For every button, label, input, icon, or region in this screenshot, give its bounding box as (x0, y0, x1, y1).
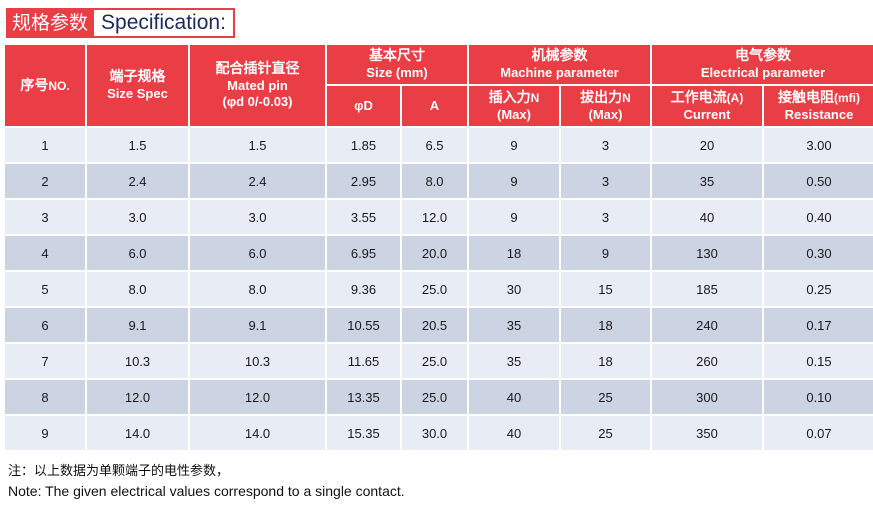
header-extract-force: 拔出力N (Max) (561, 86, 650, 126)
cell-a: 25.0 (402, 272, 467, 306)
cell-resistance: 0.17 (764, 308, 873, 342)
cell-insert-force: 35 (469, 308, 559, 342)
title-box: 规格参数 Specification: (6, 8, 235, 38)
cell-phi-d: 15.35 (327, 416, 400, 450)
table-row: 812.012.013.3525.040253000.10 (5, 380, 873, 414)
cell-extract-force: 15 (561, 272, 650, 306)
cell-insert-force: 18 (469, 236, 559, 270)
header-extract-force-max: (Max) (563, 107, 648, 123)
cell-no: 4 (5, 236, 85, 270)
cell-insert-force: 35 (469, 344, 559, 378)
header-machine-cn: 机械参数 (471, 48, 648, 65)
header-resistance-unit: (mfi) (834, 91, 860, 105)
cell-size-spec: 14.0 (87, 416, 188, 450)
cell-resistance: 0.15 (764, 344, 873, 378)
cell-phi-d: 13.35 (327, 380, 400, 414)
footer-note: 注：以上数据为单颗端子的电性参数， Note: The given electr… (8, 462, 873, 501)
table-row: 11.51.51.856.593203.00 (5, 128, 873, 162)
header-resistance-line1: 接触电阻(mfi) (766, 89, 872, 107)
table-body: 11.51.51.856.593203.0022.42.42.958.09335… (5, 128, 873, 450)
cell-current: 35 (652, 164, 762, 198)
header-resistance: 接触电阻(mfi) Resistance (764, 86, 873, 126)
cell-resistance: 0.50 (764, 164, 873, 198)
cell-no: 3 (5, 200, 85, 234)
header-current-line1: 工作电流(A) (654, 89, 760, 107)
header-insert-force-line1: 插入力N (471, 89, 557, 107)
cell-no: 7 (5, 344, 85, 378)
cell-phi-d: 10.55 (327, 308, 400, 342)
cell-no: 9 (5, 416, 85, 450)
header-insert-force-cn: 插入力 (489, 90, 531, 106)
cell-mated-pin: 12.0 (190, 380, 325, 414)
header-machine-en: Machine parameter (471, 65, 648, 81)
cell-a: 8.0 (402, 164, 467, 198)
header-no: 序号NO. (5, 45, 85, 126)
cell-size-spec: 9.1 (87, 308, 188, 342)
header-no-cn: 序号 (20, 78, 48, 94)
header-group-machine: 机械参数 Machine parameter (469, 45, 650, 84)
cell-phi-d: 2.95 (327, 164, 400, 198)
cell-extract-force: 18 (561, 308, 650, 342)
specification-title-bar: 规格参数 Specification: (0, 0, 873, 40)
cell-insert-force: 30 (469, 272, 559, 306)
header-extract-force-unit: N (622, 91, 631, 105)
cell-phi-d: 11.65 (327, 344, 400, 378)
cell-no: 5 (5, 272, 85, 306)
footer-note-chinese: 注：以上数据为单颗端子的电性参数， (8, 462, 873, 481)
cell-extract-force: 9 (561, 236, 650, 270)
cell-current: 240 (652, 308, 762, 342)
header-resistance-cn: 接触电阻 (778, 90, 834, 106)
header-mated-pin-cn: 配合插针直径 (192, 61, 323, 78)
header-a-label: A (404, 98, 465, 114)
cell-extract-force: 18 (561, 344, 650, 378)
header-mated-pin-tolerance: (φd 0/-0.03) (192, 94, 323, 110)
cell-mated-pin: 14.0 (190, 416, 325, 450)
header-current-en: Current (654, 107, 760, 123)
cell-resistance: 0.07 (764, 416, 873, 450)
cell-current: 300 (652, 380, 762, 414)
header-size-spec: 端子规格 Size Spec (87, 45, 188, 126)
table-row: 46.06.06.9520.01891300.30 (5, 236, 873, 270)
header-group-electrical: 电气参数 Electrical parameter (652, 45, 873, 84)
cell-size-spec: 1.5 (87, 128, 188, 162)
header-electrical-cn: 电气参数 (654, 48, 872, 65)
cell-resistance: 0.40 (764, 200, 873, 234)
cell-extract-force: 3 (561, 200, 650, 234)
cell-mated-pin: 1.5 (190, 128, 325, 162)
cell-a: 25.0 (402, 380, 467, 414)
table-row: 33.03.03.5512.093400.40 (5, 200, 873, 234)
specification-table: 序号NO. 端子规格 Size Spec 配合插针直径 Mated pin (φ… (3, 43, 873, 452)
cell-phi-d: 1.85 (327, 128, 400, 162)
header-size-cn: 基本尺寸 (329, 48, 465, 65)
cell-resistance: 3.00 (764, 128, 873, 162)
header-insert-force-max: (Max) (471, 107, 557, 123)
cell-no: 2 (5, 164, 85, 198)
header-group-size: 基本尺寸 Size (mm) (327, 45, 467, 84)
header-mated-pin-en: Mated pin (192, 78, 323, 94)
cell-phi-d: 9.36 (327, 272, 400, 306)
cell-extract-force: 25 (561, 416, 650, 450)
cell-resistance: 0.10 (764, 380, 873, 414)
cell-insert-force: 40 (469, 416, 559, 450)
cell-current: 20 (652, 128, 762, 162)
header-row-top: 序号NO. 端子规格 Size Spec 配合插针直径 Mated pin (φ… (5, 45, 873, 84)
cell-extract-force: 3 (561, 128, 650, 162)
header-mated-pin: 配合插针直径 Mated pin (φd 0/-0.03) (190, 45, 325, 126)
cell-size-spec: 2.4 (87, 164, 188, 198)
cell-no: 6 (5, 308, 85, 342)
header-a: A (402, 86, 467, 126)
table-row: 58.08.09.3625.030151850.25 (5, 272, 873, 306)
cell-mated-pin: 3.0 (190, 200, 325, 234)
cell-size-spec: 12.0 (87, 380, 188, 414)
header-phi-d-label: φD (329, 98, 398, 114)
cell-current: 350 (652, 416, 762, 450)
cell-mated-pin: 6.0 (190, 236, 325, 270)
header-size-spec-en: Size Spec (89, 86, 186, 102)
table-row: 69.19.110.5520.535182400.17 (5, 308, 873, 342)
footer-note-english: Note: The given electrical values corres… (8, 481, 873, 501)
table-row: 22.42.42.958.093350.50 (5, 164, 873, 198)
table-row: 914.014.015.3530.040253500.07 (5, 416, 873, 450)
header-size-spec-cn: 端子规格 (89, 69, 186, 86)
header-insert-force-unit: N (531, 91, 540, 105)
cell-resistance: 0.30 (764, 236, 873, 270)
cell-a: 20.0 (402, 236, 467, 270)
cell-mated-pin: 8.0 (190, 272, 325, 306)
cell-mated-pin: 10.3 (190, 344, 325, 378)
header-extract-force-line1: 拔出力N (563, 89, 648, 107)
cell-insert-force: 9 (469, 128, 559, 162)
header-electrical-en: Electrical parameter (654, 65, 872, 81)
cell-mated-pin: 2.4 (190, 164, 325, 198)
cell-phi-d: 3.55 (327, 200, 400, 234)
cell-extract-force: 3 (561, 164, 650, 198)
cell-a: 6.5 (402, 128, 467, 162)
cell-extract-force: 25 (561, 380, 650, 414)
cell-mated-pin: 9.1 (190, 308, 325, 342)
header-current-unit: (A) (727, 91, 744, 105)
cell-insert-force: 9 (469, 164, 559, 198)
header-size-en: Size (mm) (329, 65, 465, 81)
cell-no: 8 (5, 380, 85, 414)
title-english: Specification: (94, 10, 233, 36)
cell-a: 30.0 (402, 416, 467, 450)
cell-current: 40 (652, 200, 762, 234)
cell-current: 260 (652, 344, 762, 378)
header-extract-force-cn: 拔出力 (580, 90, 622, 106)
header-resistance-en: Resistance (766, 107, 872, 123)
header-current: 工作电流(A) Current (652, 86, 762, 126)
cell-insert-force: 40 (469, 380, 559, 414)
table-row: 710.310.311.6525.035182600.15 (5, 344, 873, 378)
header-no-en: NO. (48, 79, 69, 93)
cell-size-spec: 10.3 (87, 344, 188, 378)
cell-a: 25.0 (402, 344, 467, 378)
cell-resistance: 0.25 (764, 272, 873, 306)
cell-insert-force: 9 (469, 200, 559, 234)
header-insert-force: 插入力N (Max) (469, 86, 559, 126)
cell-size-spec: 3.0 (87, 200, 188, 234)
cell-a: 12.0 (402, 200, 467, 234)
cell-no: 1 (5, 128, 85, 162)
cell-phi-d: 6.95 (327, 236, 400, 270)
cell-current: 130 (652, 236, 762, 270)
title-chinese: 规格参数 (8, 10, 94, 36)
cell-size-spec: 6.0 (87, 236, 188, 270)
cell-size-spec: 8.0 (87, 272, 188, 306)
cell-current: 185 (652, 272, 762, 306)
header-phi-d: φD (327, 86, 400, 126)
header-current-cn: 工作电流 (671, 90, 727, 106)
cell-a: 20.5 (402, 308, 467, 342)
